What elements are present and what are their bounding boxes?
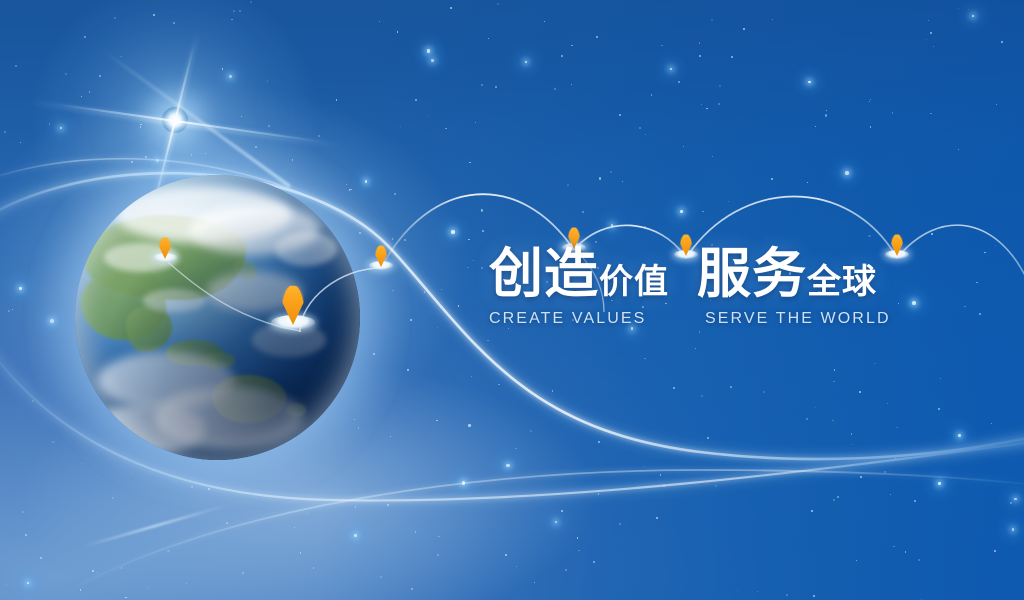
star-dot — [893, 546, 895, 548]
star-dot — [437, 554, 439, 556]
star-dot — [21, 520, 22, 521]
star-dot — [475, 122, 476, 123]
star-dot — [411, 588, 413, 590]
star-dot — [431, 59, 434, 62]
headline-phrase2-major: 服务 — [697, 247, 807, 301]
star-dot — [487, 340, 488, 341]
star-dot — [898, 303, 899, 304]
star-dot — [469, 162, 471, 164]
star-dot — [706, 108, 708, 110]
star-dot — [979, 313, 981, 315]
star-dot — [1010, 502, 1012, 504]
star-dot — [336, 99, 338, 101]
star-dot — [996, 104, 997, 105]
star-dot — [462, 481, 466, 485]
star-dot — [644, 226, 646, 228]
star-dot — [884, 471, 886, 473]
star-dot — [619, 523, 621, 525]
star-dot — [561, 55, 563, 57]
star-dot — [233, 10, 234, 11]
star-dot — [482, 502, 483, 503]
star-dot — [680, 210, 684, 214]
star-dot — [984, 252, 986, 254]
star-dot — [488, 38, 489, 39]
star-dot — [639, 127, 641, 129]
star-dot — [458, 305, 460, 307]
star-dot — [926, 39, 927, 40]
star-dot — [445, 128, 446, 129]
star-dot — [397, 31, 398, 32]
star-dot — [912, 301, 916, 305]
star-dot — [516, 566, 517, 567]
star-dot — [811, 510, 813, 512]
star-dot — [1001, 41, 1003, 43]
star-dot — [354, 534, 357, 537]
star-dot — [860, 476, 862, 478]
star-dot — [868, 235, 870, 237]
star-dot — [552, 390, 554, 392]
headline-block: 创造 价值 服务 全球 CREATE VALUES SERVE THE WORL… — [489, 247, 891, 328]
star-dot — [554, 88, 556, 90]
star-dot — [451, 230, 455, 234]
star-dot — [896, 427, 898, 429]
star-dot — [651, 94, 653, 96]
star-dot — [757, 591, 758, 592]
star-dot — [596, 36, 598, 38]
star-dot — [918, 559, 920, 561]
star-dot — [22, 511, 24, 513]
star-dot — [806, 418, 808, 420]
star-dot — [599, 177, 601, 179]
star-dot — [437, 327, 438, 328]
star-dot — [481, 267, 483, 269]
star-dot — [808, 81, 811, 84]
star-dot — [730, 386, 732, 388]
star-dot — [313, 567, 315, 569]
star-dot — [663, 485, 665, 487]
star-dot — [300, 552, 302, 554]
star-dot — [673, 387, 675, 389]
star-dot — [995, 245, 996, 246]
headline-phrase2-minor: 全球 — [807, 265, 877, 299]
star-dot — [481, 209, 483, 211]
star-dot — [81, 96, 82, 97]
subtitle-row: CREATE VALUES SERVE THE WORLD — [489, 310, 891, 328]
star-dot — [571, 84, 572, 85]
star-dot — [874, 363, 875, 364]
star-dot — [140, 126, 142, 128]
star-dot — [6, 584, 8, 586]
star-dot — [120, 56, 122, 58]
star-dot — [565, 569, 567, 571]
star-dot — [656, 517, 658, 519]
star-dot — [25, 534, 27, 536]
star-dot — [140, 124, 141, 125]
star-dot — [99, 75, 101, 77]
star-dot — [743, 28, 745, 30]
star-dot — [424, 291, 426, 293]
hero-banner: 创造 价值 服务 全球 CREATE VALUES SERVE THE WORL… — [0, 0, 1024, 600]
star-dot — [121, 567, 122, 568]
star-dot — [65, 73, 67, 75]
star-dot — [958, 8, 959, 9]
star-dot — [832, 420, 833, 421]
star-dot — [167, 550, 169, 552]
star-dot — [718, 103, 720, 105]
star-dot — [807, 182, 808, 183]
star-dot — [670, 68, 672, 70]
star-dot — [712, 156, 713, 157]
globe-rim-light — [75, 175, 360, 460]
star-dot — [577, 537, 579, 539]
star-dot — [834, 369, 836, 371]
star-dot — [415, 531, 417, 533]
star-dot — [815, 407, 816, 408]
star-dot — [610, 171, 612, 173]
star-dot — [699, 55, 701, 57]
star-dot — [80, 589, 82, 591]
star-dot — [468, 424, 470, 426]
star-dot — [15, 65, 17, 67]
star-dot — [505, 554, 507, 556]
star-dot — [731, 56, 733, 58]
star-dot — [660, 474, 662, 476]
star-dot — [678, 81, 680, 83]
star-dot — [567, 184, 569, 186]
star-dot — [938, 408, 940, 410]
star-dot — [555, 521, 557, 523]
star-dot — [390, 436, 391, 437]
star-dot — [964, 306, 966, 308]
star-dot — [467, 267, 469, 269]
star-dot — [786, 594, 788, 596]
star-dot — [938, 482, 941, 485]
star-dot — [931, 233, 933, 235]
star-dot — [267, 80, 268, 81]
star-dot — [928, 20, 929, 21]
star-dot — [702, 211, 703, 212]
star-dot — [250, 1, 252, 3]
star-dot — [813, 595, 815, 597]
star-dot — [859, 391, 861, 393]
star-dot — [239, 10, 241, 12]
star-dot — [905, 551, 906, 552]
star-dot — [958, 149, 959, 150]
headline-phrase1-major: 创造 — [489, 247, 599, 301]
star-dot — [147, 587, 148, 588]
star-dot — [772, 19, 773, 20]
star-dot — [598, 493, 599, 494]
star-dot — [394, 193, 396, 195]
star-dot — [994, 550, 996, 552]
star-dot — [701, 104, 702, 105]
star-dot — [645, 134, 646, 135]
star-dot — [598, 441, 600, 443]
star-dot — [870, 126, 872, 128]
globe-sphere — [75, 175, 360, 460]
star-dot — [870, 99, 871, 100]
star-dot — [972, 15, 974, 17]
star-dot — [436, 420, 437, 421]
star-dot — [186, 583, 188, 585]
star-dot — [582, 211, 584, 213]
star-dot — [958, 434, 961, 437]
star-dot — [515, 448, 517, 450]
star-dot — [869, 101, 870, 102]
star-dot — [153, 14, 155, 16]
star-dot — [415, 99, 417, 101]
star-dot — [438, 536, 440, 538]
star-dot — [112, 497, 114, 499]
star-dot — [40, 557, 42, 559]
star-dot — [707, 437, 709, 439]
star-dot — [728, 201, 729, 202]
star-dot — [8, 310, 10, 312]
star-dot — [450, 7, 452, 9]
star-dot — [400, 126, 401, 127]
subtitle-right: SERVE THE WORLD — [705, 310, 891, 328]
star-dot — [307, 513, 308, 514]
star-dot — [895, 458, 896, 459]
star-dot — [622, 181, 624, 183]
star-dot — [525, 61, 527, 63]
star-dot — [4, 131, 5, 132]
star-dot — [593, 561, 595, 563]
star-dot — [578, 550, 580, 552]
star-dot — [387, 504, 389, 506]
headline-row: 创造 价值 服务 全球 — [489, 247, 891, 301]
star-dot — [968, 9, 969, 10]
star-dot — [311, 570, 312, 571]
star-dot — [856, 560, 857, 561]
star-dot — [644, 466, 646, 468]
star-dot — [644, 358, 646, 360]
star-dot — [49, 123, 50, 124]
star-dot — [701, 395, 703, 397]
star-dot — [833, 381, 834, 382]
star-dot — [294, 527, 296, 529]
star-dot — [699, 331, 700, 332]
star-dot — [471, 376, 472, 377]
star-dot — [571, 45, 573, 47]
star-dot — [1012, 528, 1015, 531]
star-dot — [815, 126, 816, 127]
star-dot — [737, 590, 738, 591]
star-dot — [695, 348, 696, 349]
star-dot — [92, 570, 94, 572]
star-dot — [976, 282, 977, 283]
star-dot — [481, 84, 483, 86]
star-dot — [930, 32, 932, 34]
star-dot — [97, 572, 98, 573]
star-dot — [771, 178, 773, 180]
star-dot — [229, 75, 232, 78]
star-dot — [914, 500, 916, 502]
star-dot — [619, 114, 621, 116]
star-dot — [84, 36, 86, 38]
star-dot — [473, 260, 474, 261]
star-dot — [851, 444, 853, 446]
star-dot — [719, 85, 721, 87]
star-dot — [887, 403, 888, 404]
star-dot — [933, 46, 934, 47]
star-dot — [89, 91, 90, 92]
star-dot — [661, 45, 662, 46]
star-dot — [355, 506, 357, 508]
star-dot — [427, 49, 431, 53]
star-dot — [544, 21, 545, 22]
star-dot — [991, 423, 992, 424]
star-dot — [530, 430, 532, 432]
earth-globe-icon — [75, 175, 360, 460]
star-dot — [12, 309, 13, 310]
star-dot — [27, 582, 29, 584]
star-dot — [380, 576, 382, 578]
star-dot — [60, 127, 63, 130]
star-dot — [561, 510, 563, 512]
star-dot — [495, 86, 497, 88]
star-dot — [890, 494, 891, 495]
star-dot — [826, 110, 827, 111]
star-dot — [845, 171, 849, 175]
star-dot — [52, 441, 54, 443]
star-dot — [482, 230, 484, 232]
headline-phrase1-minor: 价值 — [599, 265, 669, 299]
star-dot — [441, 289, 443, 291]
star-dot — [715, 485, 717, 487]
star-dot — [231, 19, 232, 20]
star-dot — [534, 582, 535, 583]
star-dot — [427, 116, 428, 117]
star-dot — [699, 42, 701, 44]
star-dot — [711, 19, 713, 21]
star-dot — [833, 499, 835, 501]
star-dot — [892, 112, 893, 113]
star-dot — [506, 464, 510, 468]
star-dot — [114, 17, 116, 19]
star-dot — [125, 597, 127, 599]
star-dot — [226, 522, 228, 524]
star-dot — [940, 378, 941, 379]
star-dot — [851, 433, 853, 435]
star-dot — [1014, 498, 1016, 500]
star-dot — [497, 3, 499, 5]
star-dot — [837, 496, 838, 497]
star-dot — [498, 384, 500, 386]
star-dot — [825, 114, 827, 116]
star-dot — [683, 146, 684, 147]
star-dot — [173, 22, 175, 24]
star-dot — [763, 391, 765, 393]
star-dot — [468, 239, 470, 241]
star-dot — [611, 224, 614, 227]
star-dot — [318, 135, 320, 137]
star-dot — [242, 572, 244, 574]
subtitle-left: CREATE VALUES — [489, 310, 705, 328]
star-dot — [930, 113, 931, 114]
star-dot — [20, 142, 21, 143]
star-dot — [222, 68, 223, 69]
star-dot — [379, 21, 380, 22]
